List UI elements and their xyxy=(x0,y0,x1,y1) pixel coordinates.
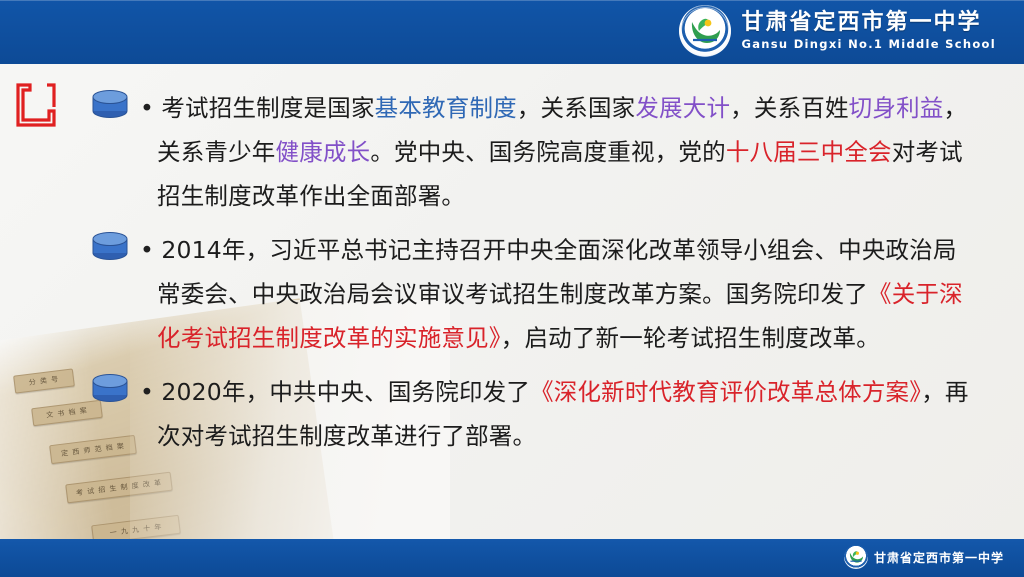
slide-header-bar: 甘肃省定西市第一中学 Gansu Dingxi No.1 Middle Scho… xyxy=(0,0,1024,64)
archive-tag-label: 文 书 档 案 xyxy=(46,405,89,420)
bullet-paragraph-1: • 考试招生制度是国家基本教育制度，关系国家发展大计，关系百姓切身利益，关系青少… xyxy=(90,86,970,218)
bullet-dot: • xyxy=(140,94,161,122)
bullet-paragraph-2: • 2014年，习近平总书记主持召开中央全面深化改革领导小组会、中央政治局常委会… xyxy=(90,228,970,360)
text-segment-highlight-purple: 健康成长 xyxy=(276,138,371,166)
red-bracket-icon xyxy=(14,83,58,127)
text-segment-highlight-red: 十八届三中全会 xyxy=(726,138,892,166)
presentation-slide: 分 类 号 文 书 档 案 定 西 师 范 档 案 考 试 招 生 制 度 改 … xyxy=(0,0,1024,577)
text-segment-highlight-purple: 发展大计 xyxy=(635,94,730,122)
text-segment: ，关系国家 xyxy=(517,94,636,122)
school-name-cn: 甘肃省定西市第一中学 xyxy=(741,12,996,34)
blue-cylinder-bullet-icon xyxy=(90,231,130,261)
text-segment-highlight-blue: 基本教育制度 xyxy=(375,94,517,122)
blue-cylinder-bullet-icon xyxy=(90,373,130,403)
blue-cylinder-bullet-icon xyxy=(90,89,130,119)
text-segment-highlight-red: 《深化新时代教育评价改革总体方案》 xyxy=(530,378,921,406)
school-crest-icon xyxy=(679,5,731,57)
school-crest-icon xyxy=(844,545,868,569)
slide-content: • 考试招生制度是国家基本教育制度，关系国家发展大计，关系百姓切身利益，关系青少… xyxy=(90,86,970,468)
crest-leaf-icon xyxy=(688,16,722,46)
header-highlight-line xyxy=(0,0,1024,1)
text-segment: 2020年，中共中央、国务院印发了 xyxy=(161,378,530,406)
footer-school-brand: 甘肃省定西市第一中学 xyxy=(844,545,1004,569)
text-segment: 。党中央、国务院高度重视，党的 xyxy=(370,138,726,166)
bullet-text-2: • 2014年，习近平总书记主持召开中央全面深化改革领导小组会、中央政治局常委会… xyxy=(140,228,970,360)
bullet-dot: • xyxy=(140,378,161,406)
school-brand: 甘肃省定西市第一中学 Gansu Dingxi No.1 Middle Scho… xyxy=(679,5,996,57)
footer-school-name-cn: 甘肃省定西市第一中学 xyxy=(874,549,1004,566)
text-segment: ，关系百姓 xyxy=(730,94,849,122)
text-segment: 考试招生制度是国家 xyxy=(161,94,374,122)
school-name-en: Gansu Dingxi No.1 Middle School xyxy=(741,39,996,51)
bullet-text-3: • 2020年，中共中央、国务院印发了《深化新时代教育评价改革总体方案》，再次对… xyxy=(140,370,970,458)
slide-footer-bar: 甘肃省定西市第一中学 xyxy=(0,539,1024,577)
bullet-paragraph-3: • 2020年，中共中央、国务院印发了《深化新时代教育评价改革总体方案》，再次对… xyxy=(90,370,970,458)
archive-tag-label: 分 类 号 xyxy=(28,374,59,388)
text-segment: ，启动了新一轮考试招生制度改革。 xyxy=(501,324,880,352)
bullet-text-1: • 考试招生制度是国家基本教育制度，关系国家发展大计，关系百姓切身利益，关系青少… xyxy=(140,86,970,218)
text-segment-highlight-purple: 切身利益 xyxy=(849,94,944,122)
bullet-dot: • xyxy=(140,236,161,264)
school-brand-text: 甘肃省定西市第一中学 Gansu Dingxi No.1 Middle Scho… xyxy=(741,12,996,51)
text-segment: 2014年，习近平总书记主持召开中央全面深化改革领导小组会、中央政治局常委会、中… xyxy=(157,236,957,308)
crest-leaf-icon xyxy=(848,550,864,564)
